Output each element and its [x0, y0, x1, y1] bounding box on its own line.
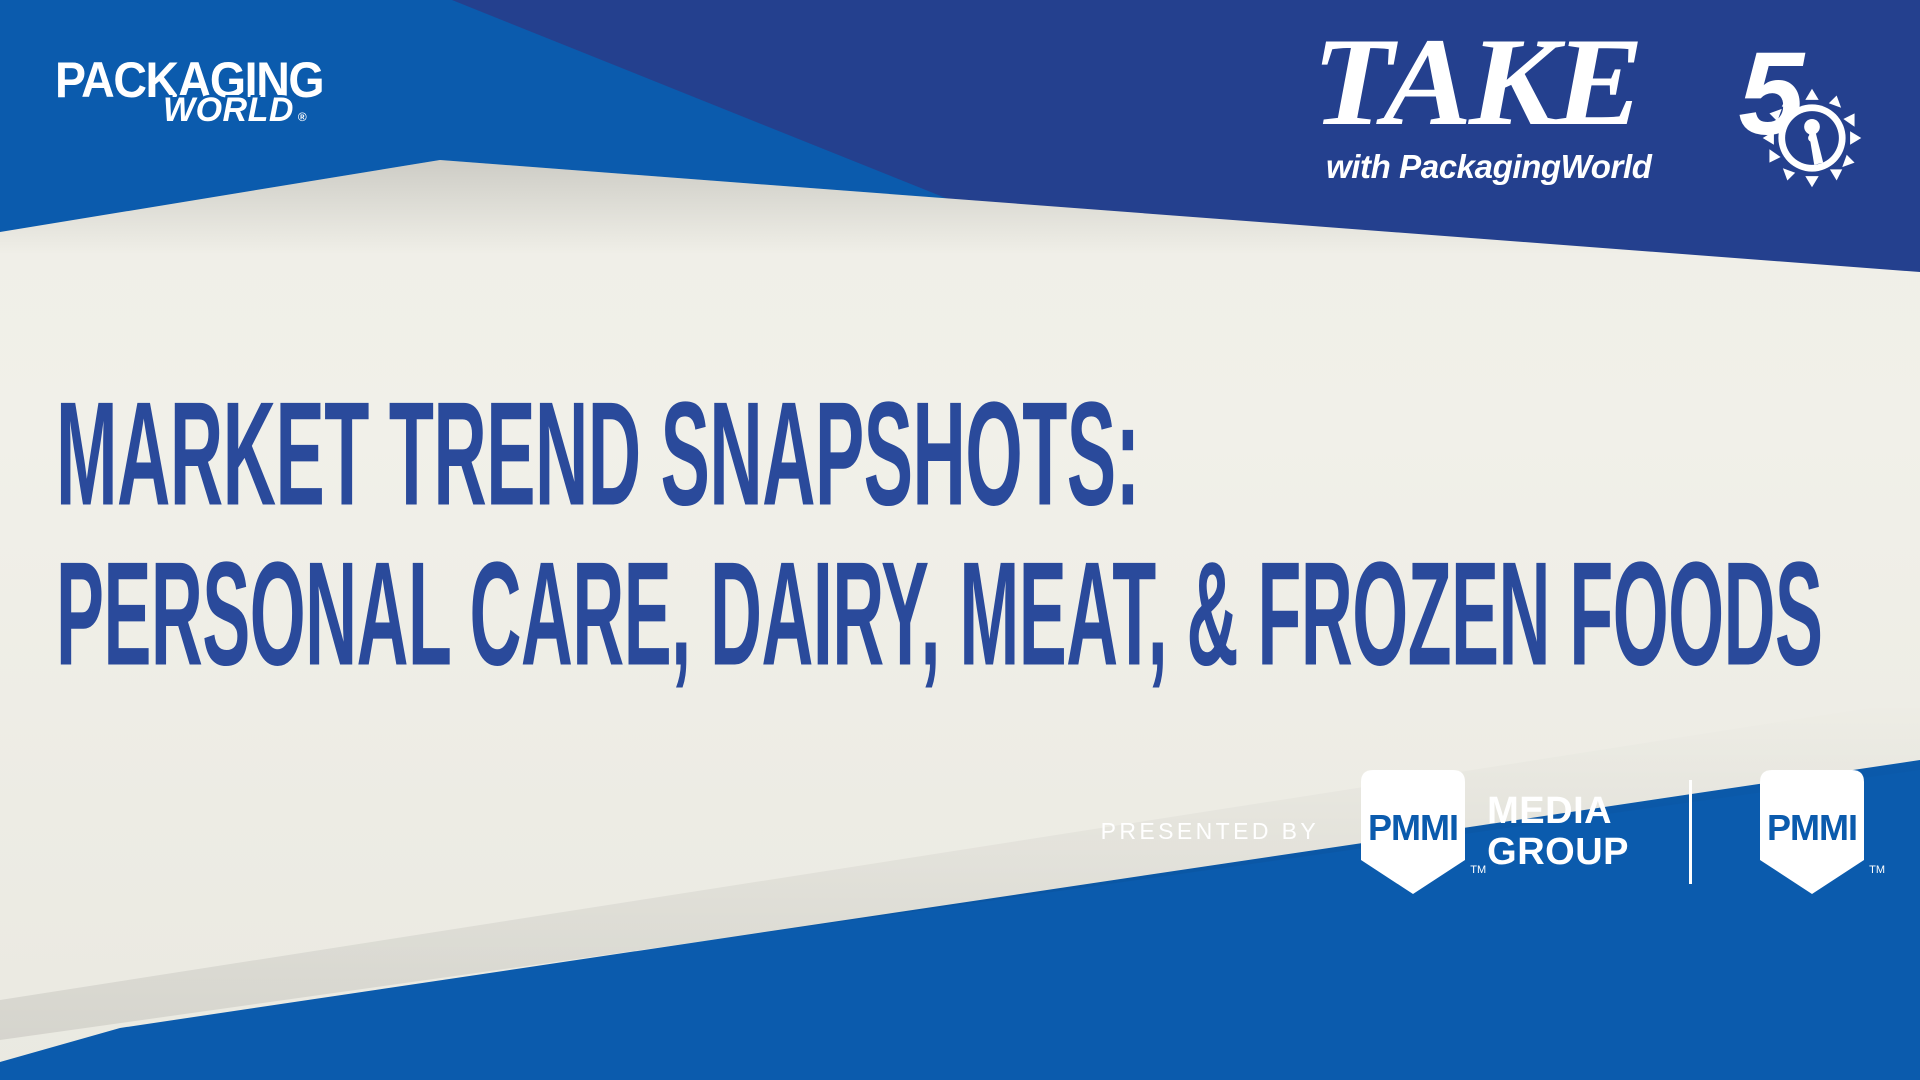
- packaging-world-logo: PACKAGING WORLD ®: [55, 55, 355, 135]
- pmmi-shield-icon-2: PMMI: [1752, 768, 1872, 896]
- footer-divider: [1689, 780, 1692, 884]
- pmmi-media-group-logo: PMMI TM MEDIA GROUP: [1353, 768, 1629, 896]
- presented-by-label: PRESENTED BY: [1101, 818, 1319, 847]
- pmmi-logo: PMMI TM: [1752, 768, 1872, 896]
- take5-wordmark-row: TAKE 5: [1312, 28, 1872, 146]
- trademark-icon-2: TM: [1869, 864, 1885, 876]
- media-group-line-1: MEDIA: [1487, 790, 1612, 832]
- pmmi-media-group-shield-wrap: PMMI TM: [1353, 768, 1473, 896]
- page-title: MARKET TREND SNAPSHOTS: PERSONAL CARE, D…: [56, 378, 1886, 674]
- packaging-world-subword: WORLD: [163, 93, 294, 127]
- pmmi-shield-text-2: PMMI: [1767, 807, 1857, 848]
- pmmi-media-group-name: MEDIA GROUP: [1487, 791, 1629, 873]
- media-group-line-2: GROUP: [1487, 832, 1629, 873]
- clock-gear-icon: [1756, 82, 1868, 194]
- take5-tagline: with PackagingWorld: [1326, 148, 1652, 186]
- take5-wordmark: TAKE: [1312, 24, 1641, 142]
- trademark-icon-1: TM: [1470, 864, 1486, 876]
- take5-logo: TAKE 5: [1312, 28, 1872, 196]
- packaging-world-sub-wrap: WORLD ®: [163, 93, 307, 127]
- footer-sponsor-bar: PRESENTED BY PMMI TM MEDIA GROUP PMMI TM: [1101, 772, 1872, 892]
- slide-canvas: PACKAGING WORLD ® TAKE 5: [0, 0, 1920, 1080]
- pmmi-shield-text-1: PMMI: [1368, 807, 1458, 848]
- page-title-line-1: MARKET TREND SNAPSHOTS:: [56, 378, 1880, 530]
- registered-trademark-icon: ®: [298, 111, 307, 123]
- page-title-line-2: PERSONAL CARE, DAIRY, MEAT, & FROZEN FOO…: [56, 538, 1881, 690]
- pmmi-shield-icon: PMMI: [1353, 768, 1473, 896]
